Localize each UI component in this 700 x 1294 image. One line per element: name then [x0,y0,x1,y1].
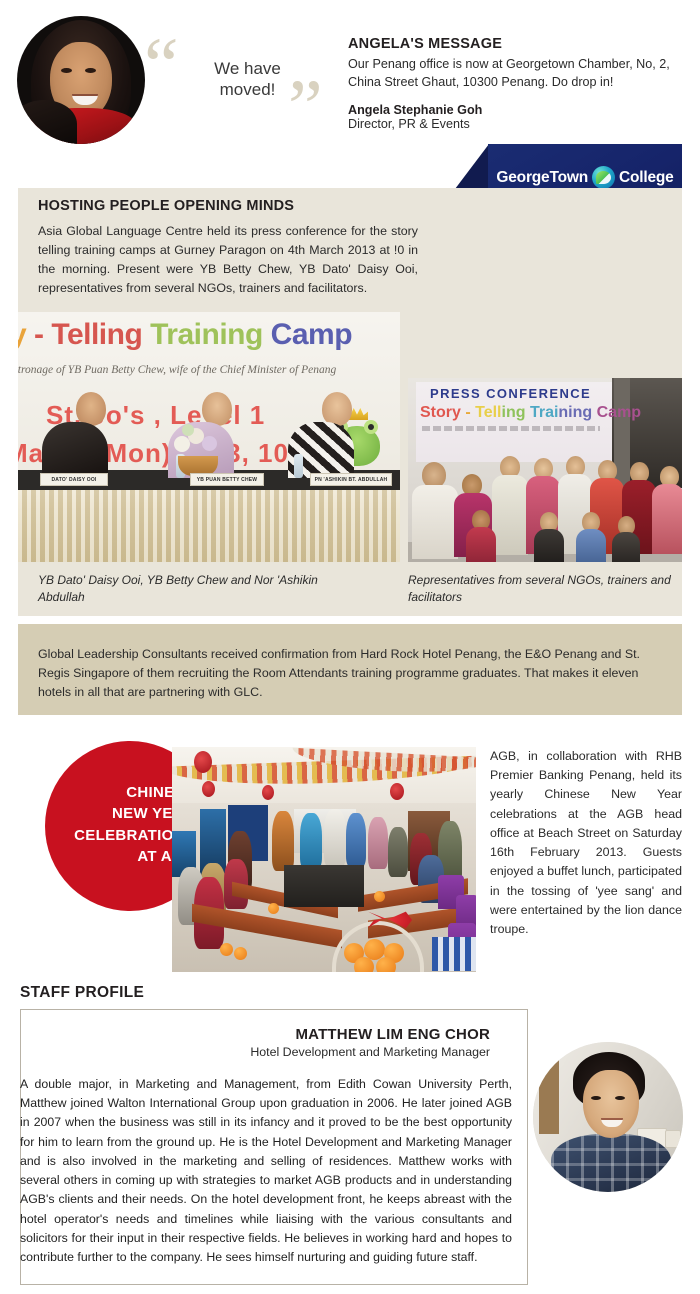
globe-icon [592,166,615,189]
group-member [612,516,640,562]
press-conference-photo: y - Telling Training Camp atronage of YB… [18,312,400,562]
group-photo-press-label: PRESS CONFERENCE [430,386,591,401]
angela-message-body: Our Penang office is now at Georgetown C… [348,56,678,92]
orange-fruit [374,891,385,902]
orange-fruit [268,903,279,914]
caption-right: Representatives from several NGOs, train… [408,572,678,607]
group-member [652,466,682,554]
hosting-section-body: Asia Global Language Centre held its pre… [38,222,418,297]
angela-message-title: ANGELA'S MESSAGE [348,36,678,52]
lantern-icon [202,781,215,797]
angela-role: Director, PR & Events [348,117,678,131]
staff-role: Hotel Development and Marketing Manager [20,1045,490,1059]
staff-portrait-photo [533,1042,683,1192]
college-wordmark: College [619,169,674,187]
group-photo: PRESS CONFERENCE Story - Telling Trainin… [408,378,682,562]
lantern-icon [390,783,404,800]
georgetown-wordmark: GeorgeTown [496,169,588,187]
name-plaque-1: DATO' DAISY OOI [40,473,108,486]
cny-event-photo [172,747,476,972]
group-photo-story-title: Story - Telling Training Camp [420,404,641,422]
we-have-moved-text: We have moved! [180,58,315,101]
name-plaque-2: YB PUAN BETTY CHEW [190,473,264,486]
cny-body-text: AGB, in collaboration with RHB Premier B… [490,747,682,939]
moved-line-1: We have [180,58,315,79]
staff-profile-heading: STAFF PROFILE [20,984,144,1002]
logo-panel-notch [455,144,489,189]
caption-left: YB Dato' Daisy Ooi, YB Betty Chew and No… [38,572,338,607]
georgetown-college-logo: GeorgeTown College [488,166,682,189]
quote-open-icon: “ [144,26,179,104]
group-member [412,462,458,559]
hosting-section-title: HOSTING PEOPLE OPENING MINDS [38,198,294,214]
panelist-3 [306,392,354,478]
staff-bio-text: A double major, in Marketing and Managem… [20,1075,512,1267]
lantern-icon [194,751,212,773]
orange-fruit [220,943,233,956]
orange-fruit [234,947,247,960]
lantern-icon [262,785,274,800]
banner-subtitle-text: atronage of YB Puan Betty Chew, wife of … [18,364,400,376]
cny-text-column: AGB, in collaboration with RHB Premier B… [490,747,682,939]
group-member [492,456,528,555]
banner-word-3: Training [150,318,263,351]
angela-message-column: ANGELA'S MESSAGE Our Penang office is no… [348,36,678,131]
glc-note-text: Global Leadership Consultants received c… [38,645,664,703]
newsletter-page: “ ” We have moved! ANGELA'S MESSAGE Our … [0,0,700,1294]
banner-headline-text: y - Telling Training Camp [18,318,400,352]
flower-basket [170,422,226,476]
name-plaque-3: PN 'ASHIKIN BT. ABDULLAH [310,473,392,486]
staff-name: MATTHEW LIM ENG CHOR [20,1026,490,1043]
group-member [466,510,496,562]
angela-portrait-photo [17,16,145,144]
moved-line-2: moved! [180,79,315,100]
panelist-1 [60,392,108,478]
group-member [534,512,564,562]
banner-word-2: - Telling [34,318,142,351]
banner-word-4: Camp [271,318,352,351]
banner-word-1: y [18,318,26,351]
group-member [576,512,606,562]
angelas-message-section: “ ” We have moved! ANGELA'S MESSAGE Our … [0,0,700,160]
angela-name: Angela Stephanie Goh [348,103,678,117]
water-bottle-2 [294,454,303,478]
